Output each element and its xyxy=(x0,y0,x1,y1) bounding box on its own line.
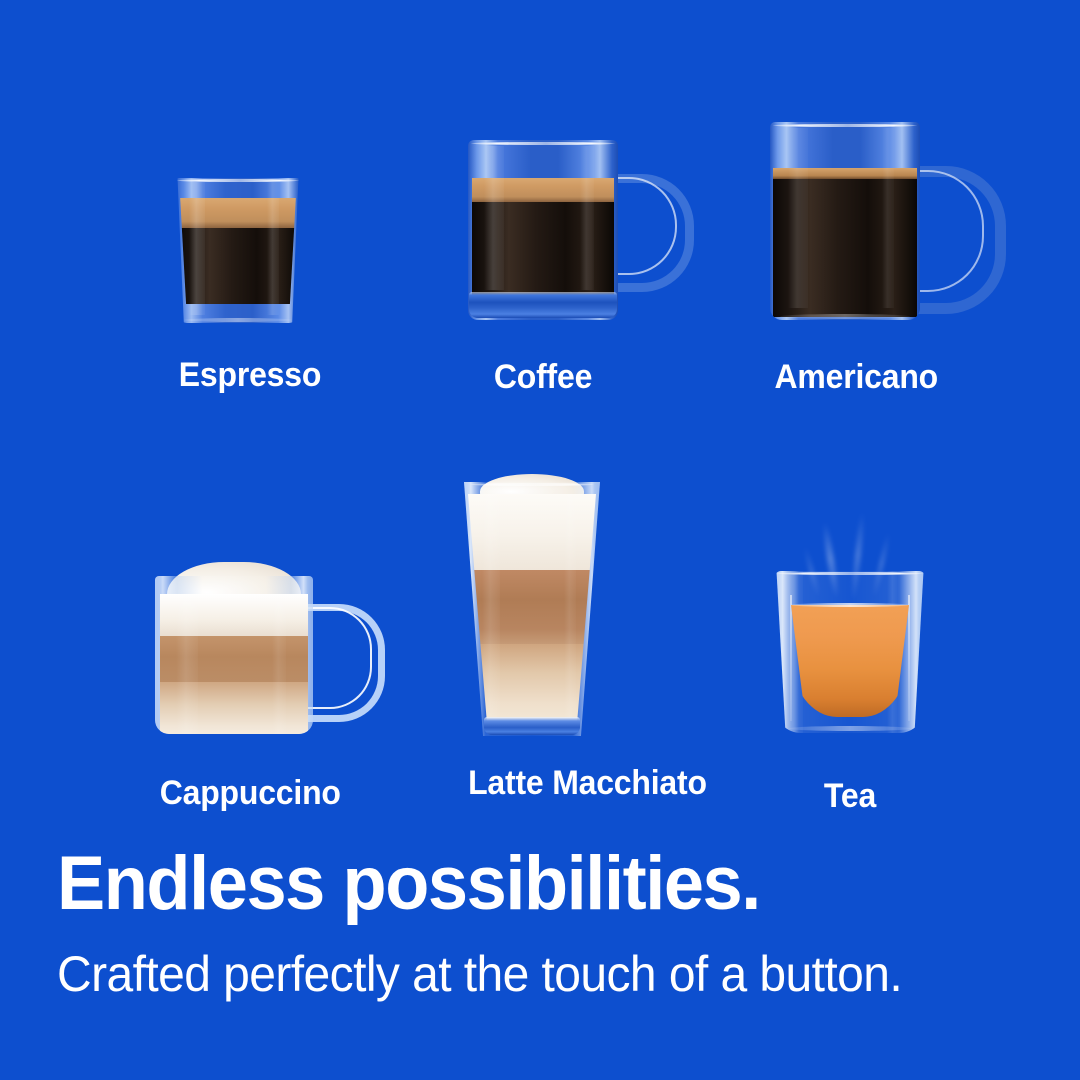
espresso-crema-layer xyxy=(179,198,297,228)
promo-canvas: Espresso Coffee xyxy=(0,0,1080,1080)
drink-card-americano[interactable]: Americano xyxy=(770,122,986,412)
espresso-glass-icon xyxy=(175,178,301,323)
tea-liquid-layer xyxy=(791,605,909,717)
drink-card-cappuccino[interactable]: Cappuccino xyxy=(155,562,377,822)
espresso-coffee-layer xyxy=(179,228,297,304)
drink-label-latte-macchiato: Latte Macchiato xyxy=(468,764,596,803)
drink-card-latte-macchiato[interactable]: Latte Macchiato xyxy=(464,474,600,824)
coffee-coffee-layer xyxy=(472,202,614,296)
americano-crema-layer xyxy=(773,168,917,179)
coffee-crema-layer xyxy=(472,178,614,202)
cappuccino-cup-icon xyxy=(155,562,377,734)
drink-label-tea: Tea xyxy=(780,777,921,816)
latte-coffee-layer xyxy=(468,570,596,644)
latte-foam-layer xyxy=(468,494,596,570)
latte-milk-layer xyxy=(468,644,596,726)
page-headline: Endless possibilities. xyxy=(57,840,760,927)
cappuccino-cup-base xyxy=(159,718,309,734)
americano-coffee-layer xyxy=(773,179,917,317)
cappuccino-coffee-layer xyxy=(160,636,308,682)
coffee-mug-base xyxy=(469,292,617,318)
drink-card-espresso[interactable]: Espresso xyxy=(175,178,301,408)
page-subline: Crafted perfectly at the touch of a butt… xyxy=(57,945,902,1003)
drink-card-tea[interactable]: Tea xyxy=(775,565,925,825)
americano-mug-icon xyxy=(770,122,986,320)
drink-label-espresso: Espresso xyxy=(179,356,297,395)
drink-label-coffee: Coffee xyxy=(473,358,614,397)
latte-glass-icon xyxy=(464,474,600,736)
cappuccino-foam-layer xyxy=(160,594,308,636)
drink-card-coffee[interactable]: Coffee xyxy=(468,140,680,410)
coffee-mug-icon xyxy=(468,140,680,320)
tea-glass-icon xyxy=(775,565,925,733)
latte-glass-base xyxy=(484,717,580,735)
drink-label-cappuccino: Cappuccino xyxy=(160,774,309,813)
drink-label-americano: Americano xyxy=(775,358,916,397)
